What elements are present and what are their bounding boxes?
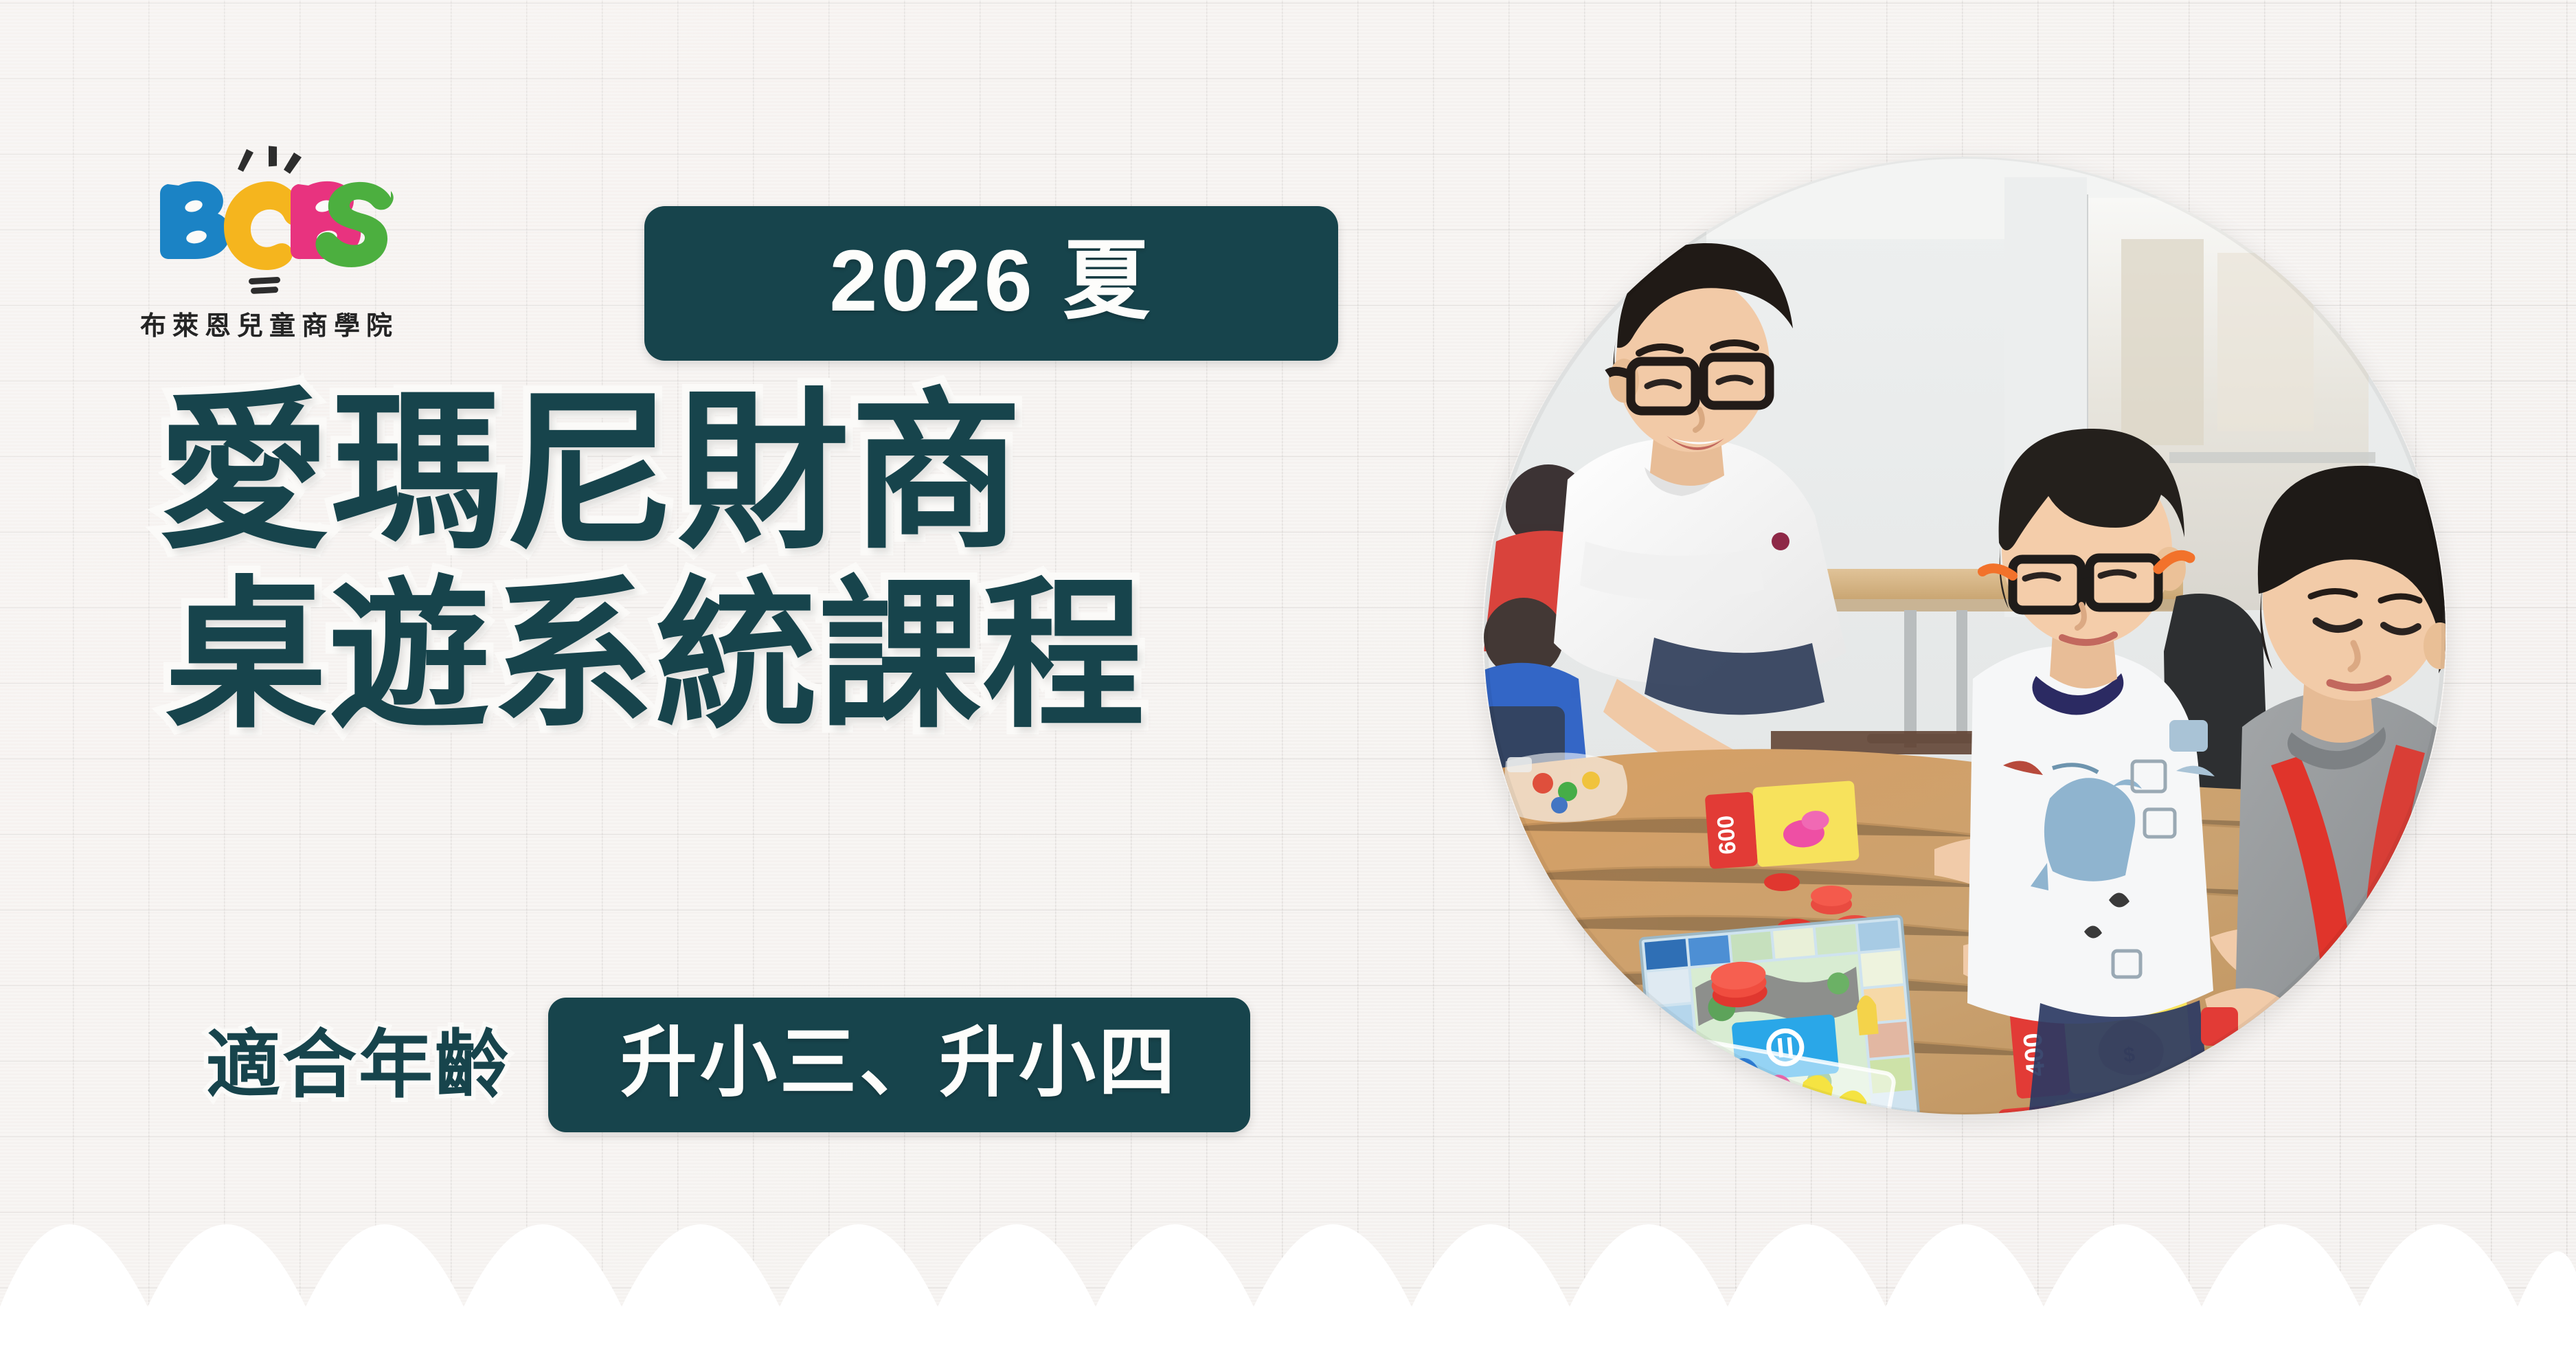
age-badge[interactable]: 升小三、升小四 — [548, 998, 1250, 1132]
card-600-top: 600 — [1704, 780, 1860, 870]
season-badge-label: 2026 夏 — [829, 238, 1153, 324]
season-badge[interactable]: 2026 夏 — [644, 206, 1338, 361]
headline-line-2: 桌遊系統課程 — [165, 574, 1367, 739]
svg-text:600: 600 — [1713, 815, 1741, 855]
classroom-boardgame-photo: 600 — [1482, 157, 2447, 1114]
logo-letter-b-blue — [160, 181, 230, 259]
age-row: 適合年齡 升小三、升小四 — [206, 998, 1250, 1132]
child-left-glasses — [1982, 555, 2190, 610]
age-badge-value: 升小三、升小四 — [620, 1024, 1178, 1101]
headline-line-1: 愛瑪尼財商 — [158, 385, 1367, 560]
bcbs-logo[interactable]: BCBS — [135, 146, 396, 331]
spark-rays-icon — [238, 146, 302, 174]
page-title: 愛瑪尼財商 桌遊系統課程 — [158, 385, 1367, 739]
logo-bulb-base-icon — [249, 277, 280, 294]
logo-subtitle: 布萊恩兒童商學院 — [135, 313, 404, 339]
age-label: 適合年齡 — [206, 1028, 511, 1102]
